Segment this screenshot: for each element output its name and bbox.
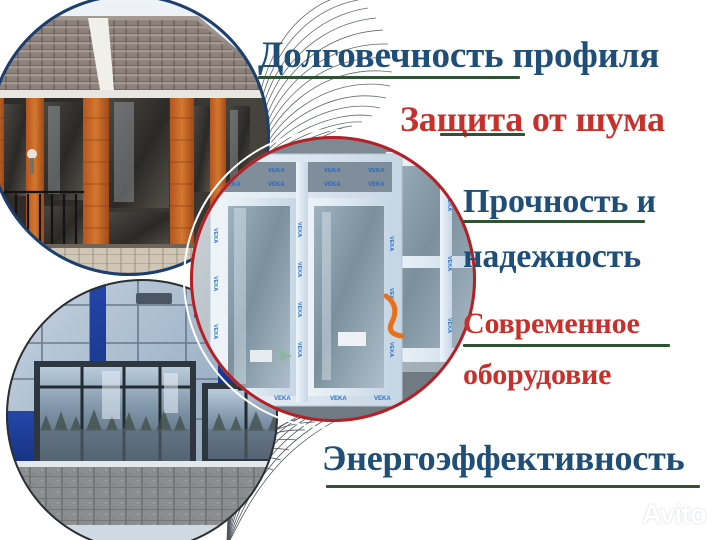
headline-strength: Прочность и [463,183,656,221]
svg-text:VEKA: VEKA [212,228,218,243]
svg-text:VEKA: VEKA [296,302,302,317]
svg-text:VEKA: VEKA [388,342,394,357]
svg-text:VEKA: VEKA [324,182,341,188]
svg-text:VEKA: VEKA [296,222,302,237]
svg-text:VEKA: VEKA [212,276,218,291]
svg-text:VEKA: VEKA [446,318,452,333]
svg-text:VEKA: VEKA [324,168,341,174]
headline-noise-underline [440,133,525,136]
svg-text:VEKA: VEKA [274,396,291,402]
svg-text:VEKA: VEKA [268,182,285,188]
avito-watermark: Avito [611,501,706,528]
svg-text:VEKA: VEKA [212,324,218,339]
svg-text:VEKA: VEKA [374,396,391,402]
svg-text:VEKA: VEKA [296,342,302,357]
headline-durability-underline [258,76,520,79]
svg-text:VEKA: VEKA [330,396,347,402]
headline-equipment-line2: оборудовие [463,358,611,392]
headline-durability: Долговечность профиля [258,34,659,77]
svg-text:VEKA: VEKA [368,182,385,188]
svg-text:VEKA: VEKA [446,196,452,211]
svg-text:VEKA: VEKA [296,262,302,277]
headline-energy: Энергоэффективность [322,437,684,479]
headline-equipment-underline [463,344,670,347]
svg-text:VEKA: VEKA [446,256,452,271]
avito-watermark-text: Avito [642,501,706,528]
photo-pvc-windows: VEKAVEKAVEKAVEKA VEKAVEKAVEKAVEKA VEKAVE… [190,136,476,422]
headline-energy-underline [326,485,700,488]
svg-text:VEKA: VEKA [268,168,285,174]
svg-text:VEKA: VEKA [368,168,385,174]
svg-text:VEKA: VEKA [224,182,241,188]
avito-logo-icon [611,504,637,526]
headline-equipment-line1: Современное [463,307,640,341]
headline-strength-underline [463,220,645,223]
headline-reliability: надежность [463,238,641,276]
poster-canvas: VEKAVEKAVEKAVEKA VEKAVEKAVEKAVEKA VEKAVE… [0,0,720,540]
svg-text:VEKA: VEKA [388,236,394,251]
